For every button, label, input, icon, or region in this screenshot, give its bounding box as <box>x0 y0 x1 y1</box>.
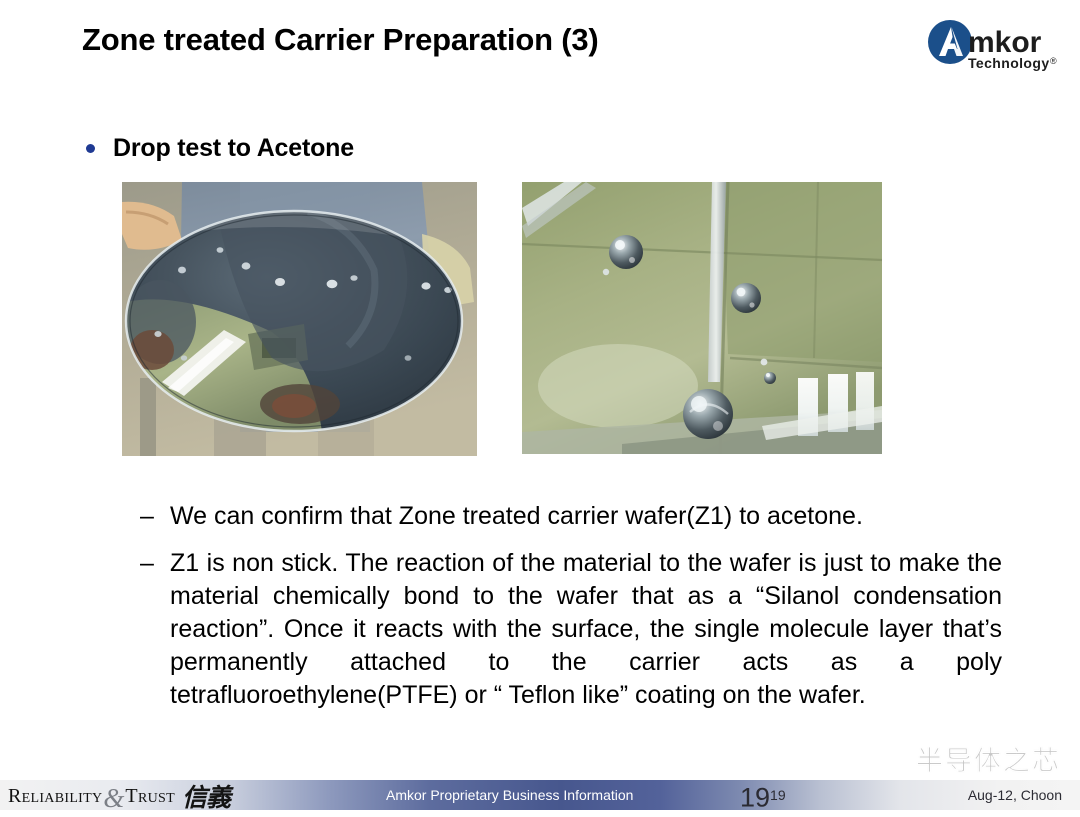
svg-text:®: ® <box>1050 56 1057 66</box>
svg-text:Technology: Technology <box>968 55 1050 71</box>
body-text-block: – We can confirm that Zone treated carri… <box>140 500 1002 726</box>
bullet-drop-test: Drop test to Acetone <box>86 134 354 163</box>
wechat-watermark: 半导体之芯 <box>856 736 1074 780</box>
trust-word: Trust <box>125 785 175 808</box>
dash-marker: – <box>140 547 170 580</box>
wafer-held-photo <box>122 182 477 456</box>
list-item-text: Z1 is non stick. The reaction of the mat… <box>170 547 1002 712</box>
bullet-label: Drop test to Acetone <box>113 134 354 163</box>
footer-date-author: Aug-12, Choon <box>968 780 1062 810</box>
page-number-main: 19 <box>740 782 770 812</box>
list-item-text: We can confirm that Zone treated carrier… <box>170 500 863 533</box>
page-number: 1919 <box>740 780 786 810</box>
wechat-icon <box>856 738 910 778</box>
wechat-watermark-text: 半导体之芯 <box>916 739 1061 778</box>
footer-bar: Reliability & Trust 信義 Amkor Proprietary… <box>0 780 1080 810</box>
dash-marker: – <box>140 500 170 533</box>
reliability-word: Reliability <box>8 785 102 808</box>
list-item: – Z1 is non stick. The reaction of the m… <box>140 547 1002 712</box>
bullet-dot-icon <box>86 144 95 153</box>
page-title: Zone treated Carrier Preparation (3) <box>82 22 599 58</box>
footer-proprietary-notice: Amkor Proprietary Business Information <box>386 780 633 810</box>
reliability-trust-logo: Reliability & Trust 信義 <box>8 782 230 810</box>
page-number-superscript: 19 <box>770 787 786 803</box>
acetone-beads-closeup-photo <box>522 182 882 454</box>
ampersand-glyph: & <box>103 783 124 814</box>
reliability-trust-cjk: 信義 <box>182 778 230 814</box>
amkor-logo: mkor Technology ® <box>922 18 1062 76</box>
list-item: – We can confirm that Zone treated carri… <box>140 500 1002 533</box>
